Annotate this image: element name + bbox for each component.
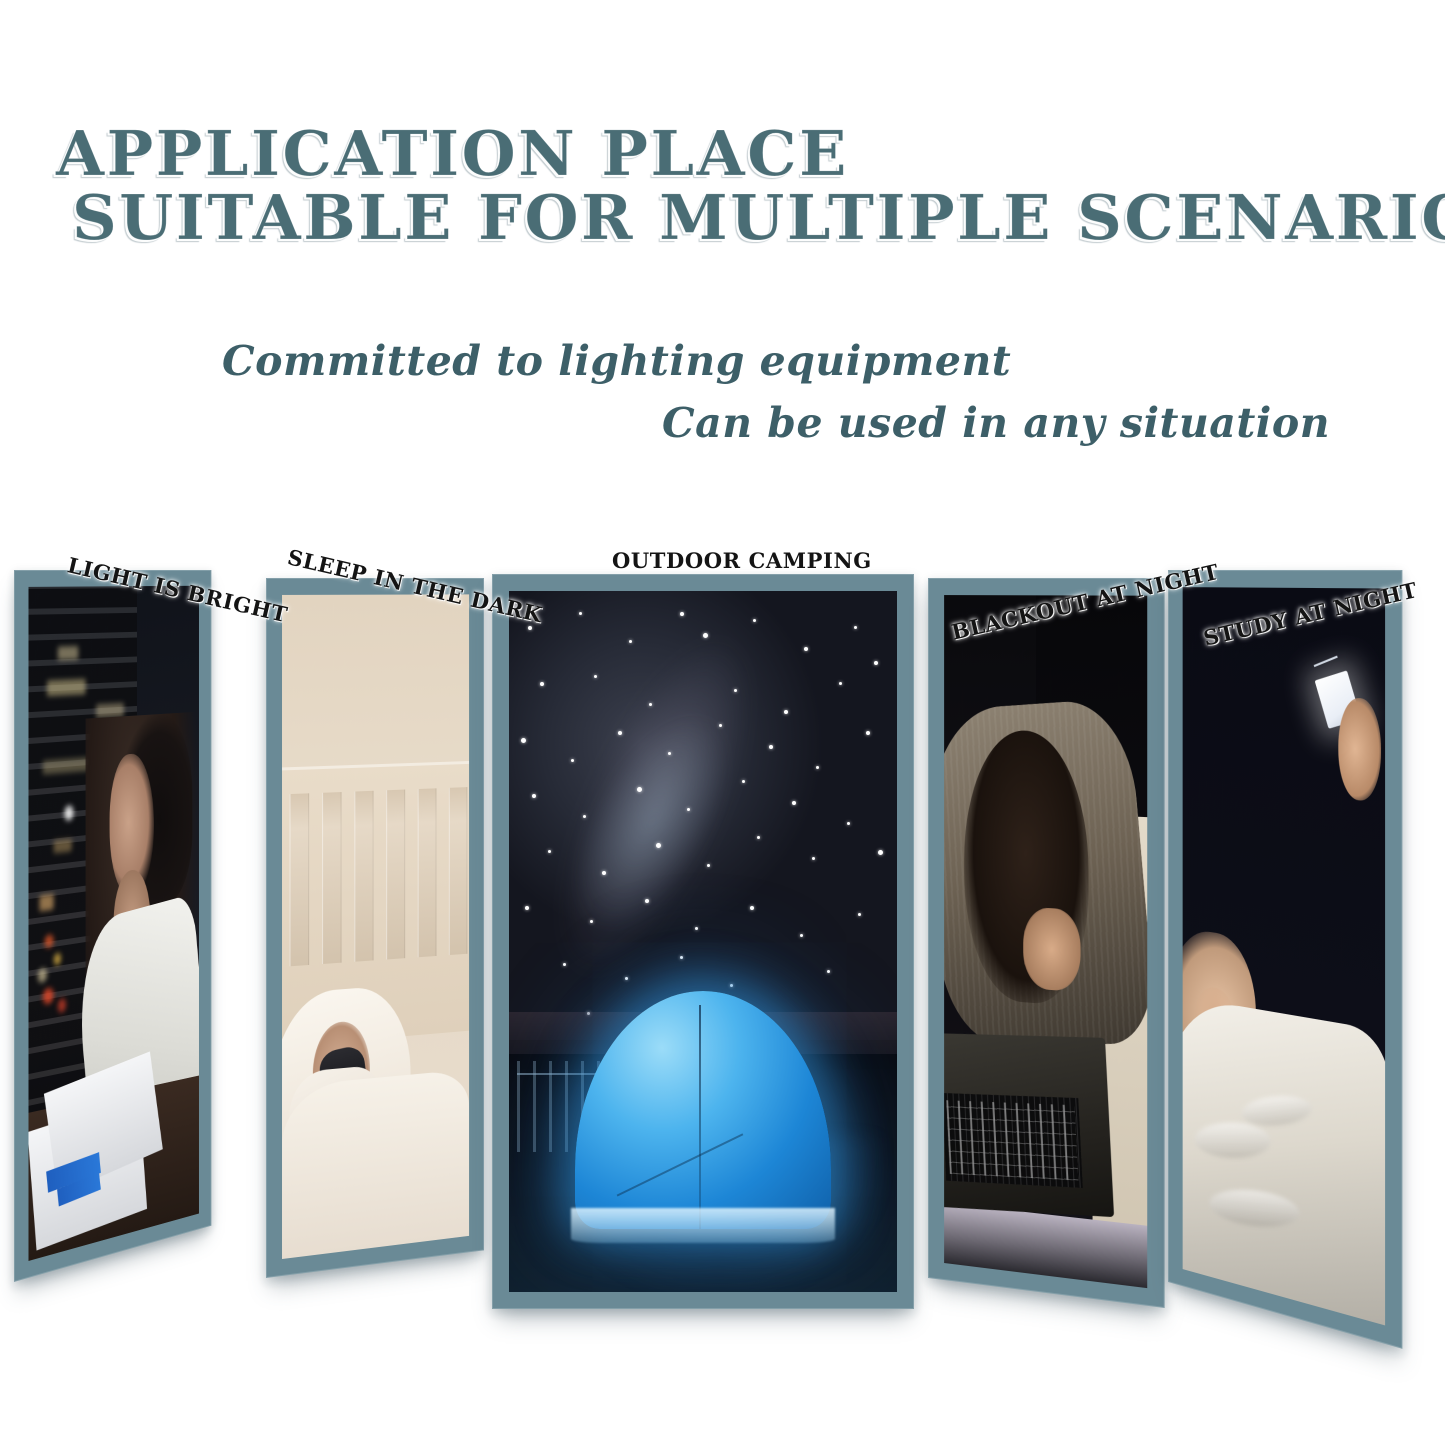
panel-photo-outdoor-camping	[509, 591, 897, 1292]
panel-frame	[928, 578, 1165, 1308]
panel-photo-sleep-in-the-dark	[282, 594, 469, 1259]
panel-label-outdoor-camping: OUTDOOR CAMPING	[612, 548, 872, 573]
page-title-line-1: APPLICATION PLACE	[56, 122, 849, 185]
poster-canvas: APPLICATION PLACE SUITABLE FOR MULTIPLE …	[0, 0, 1445, 1445]
subtitle-line-2: Can be used in any situation	[662, 399, 1330, 447]
subtitle-line-1: Committed to lighting equipment	[222, 337, 1011, 385]
page-title-line-2: SUITABLE FOR MULTIPLE SCENARIOS	[72, 186, 1445, 249]
panel-photo-study-at-night	[1183, 587, 1385, 1325]
panel-frame	[492, 574, 914, 1309]
panel-photo-blackout-at-night	[944, 595, 1147, 1288]
panel-frame	[14, 570, 211, 1282]
scenario-panel-group: LIGHT IS BRIGHT	[0, 530, 1445, 1330]
panel-frame	[266, 578, 484, 1278]
panel-frame	[1168, 570, 1402, 1349]
panel-photo-light-is-bright	[28, 586, 198, 1261]
